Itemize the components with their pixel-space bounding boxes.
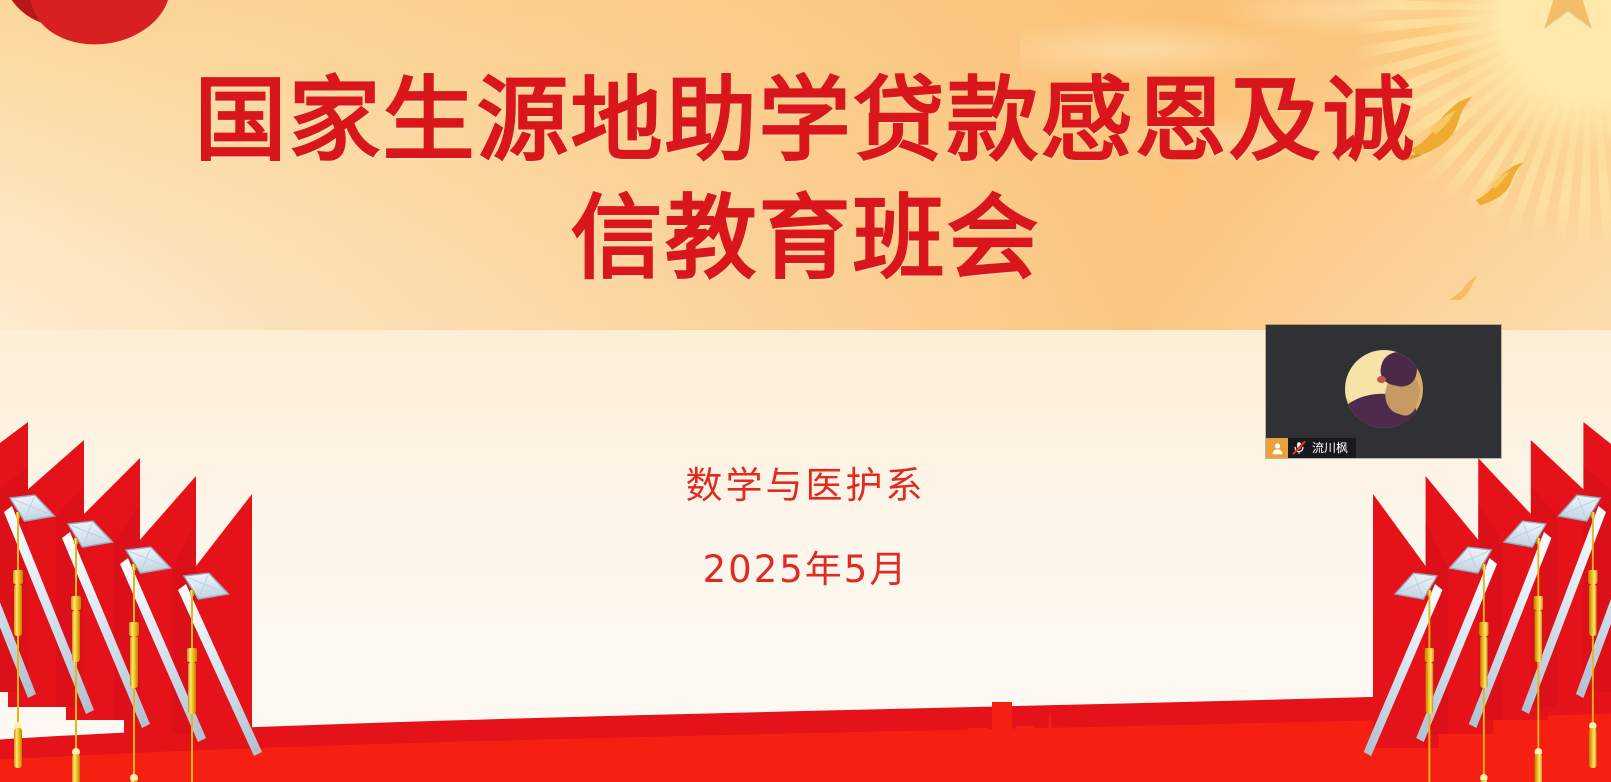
participant-name: 流川枫 (1310, 438, 1348, 458)
avatar-cheek (1377, 376, 1386, 383)
city-skyline-silhouette (0, 672, 1611, 782)
subtitle-block: 数学与医护系 2025年5月 (0, 455, 1611, 593)
person-icon (1266, 438, 1288, 458)
date-label: 2025年5月 (0, 539, 1611, 593)
department-label: 数学与医护系 (0, 455, 1611, 509)
title-block: 国家生源地助学贷款感恩及诚 信教育班会 (0, 62, 1611, 298)
microphone-muted-icon (1288, 438, 1310, 458)
dove-icon (1470, 160, 1524, 208)
participant-name-bar: 流川枫 (1266, 438, 1356, 458)
dove-icon (1444, 272, 1484, 306)
video-participant-tile[interactable]: 流川枫 (1266, 325, 1501, 458)
red-ground-sweep (0, 670, 1611, 782)
red-ribbon-shape-front (23, 0, 177, 53)
dove-icon (1400, 92, 1478, 162)
presentation-slide: 国家生源地助学贷款感恩及诚 信教育班会 数学与医护系 2025年5月 (0, 0, 1611, 782)
avatar (1345, 350, 1423, 428)
page-title-line-2: 信教育班会 (0, 180, 1611, 298)
